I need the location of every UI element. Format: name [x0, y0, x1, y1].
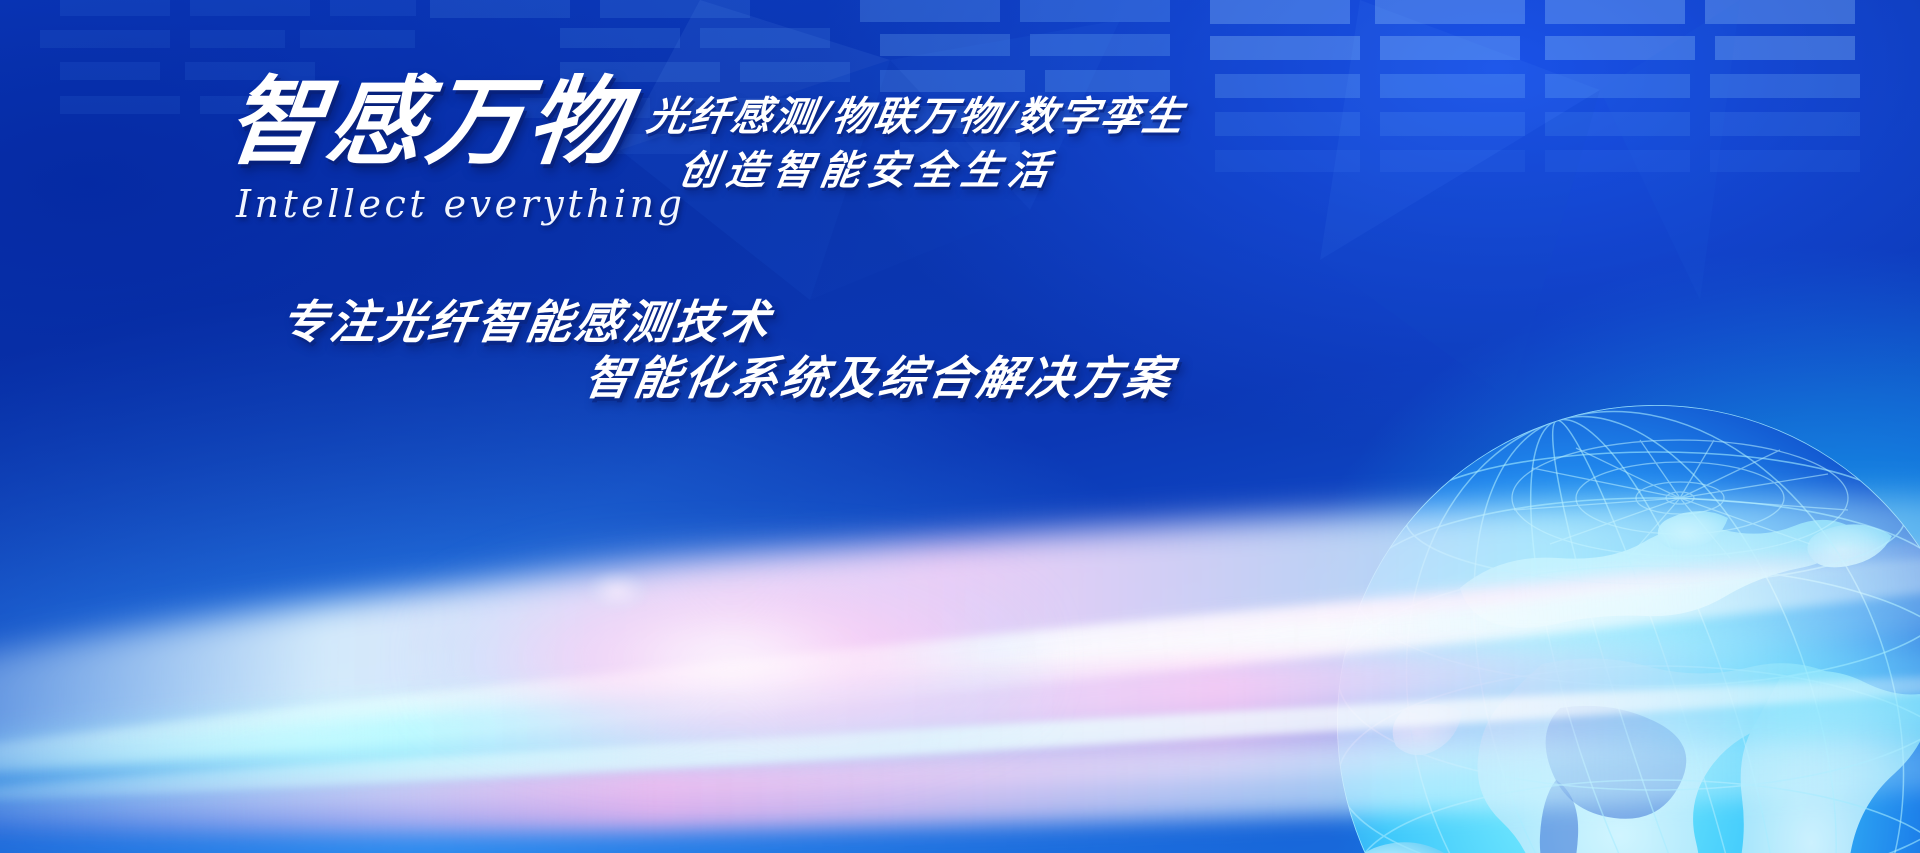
subline-solutions: 智能化系统及综合解决方案 [581, 342, 1179, 408]
headline-chinese: 智感万物 [222, 74, 634, 170]
headline-english: Intellect everything [236, 182, 685, 226]
promotional-banner: 智感万物 Intellect everything 光纤感测/物联万物/数字孪生… [0, 0, 1920, 853]
tagline-services: 光纤感测/物联万物/数字孪生 [643, 84, 1189, 142]
banner-text-layer: 智感万物 Intellect everything 光纤感测/物联万物/数字孪生… [0, 0, 1920, 853]
tagline-slogan: 创造智能安全生活 [675, 138, 1060, 196]
